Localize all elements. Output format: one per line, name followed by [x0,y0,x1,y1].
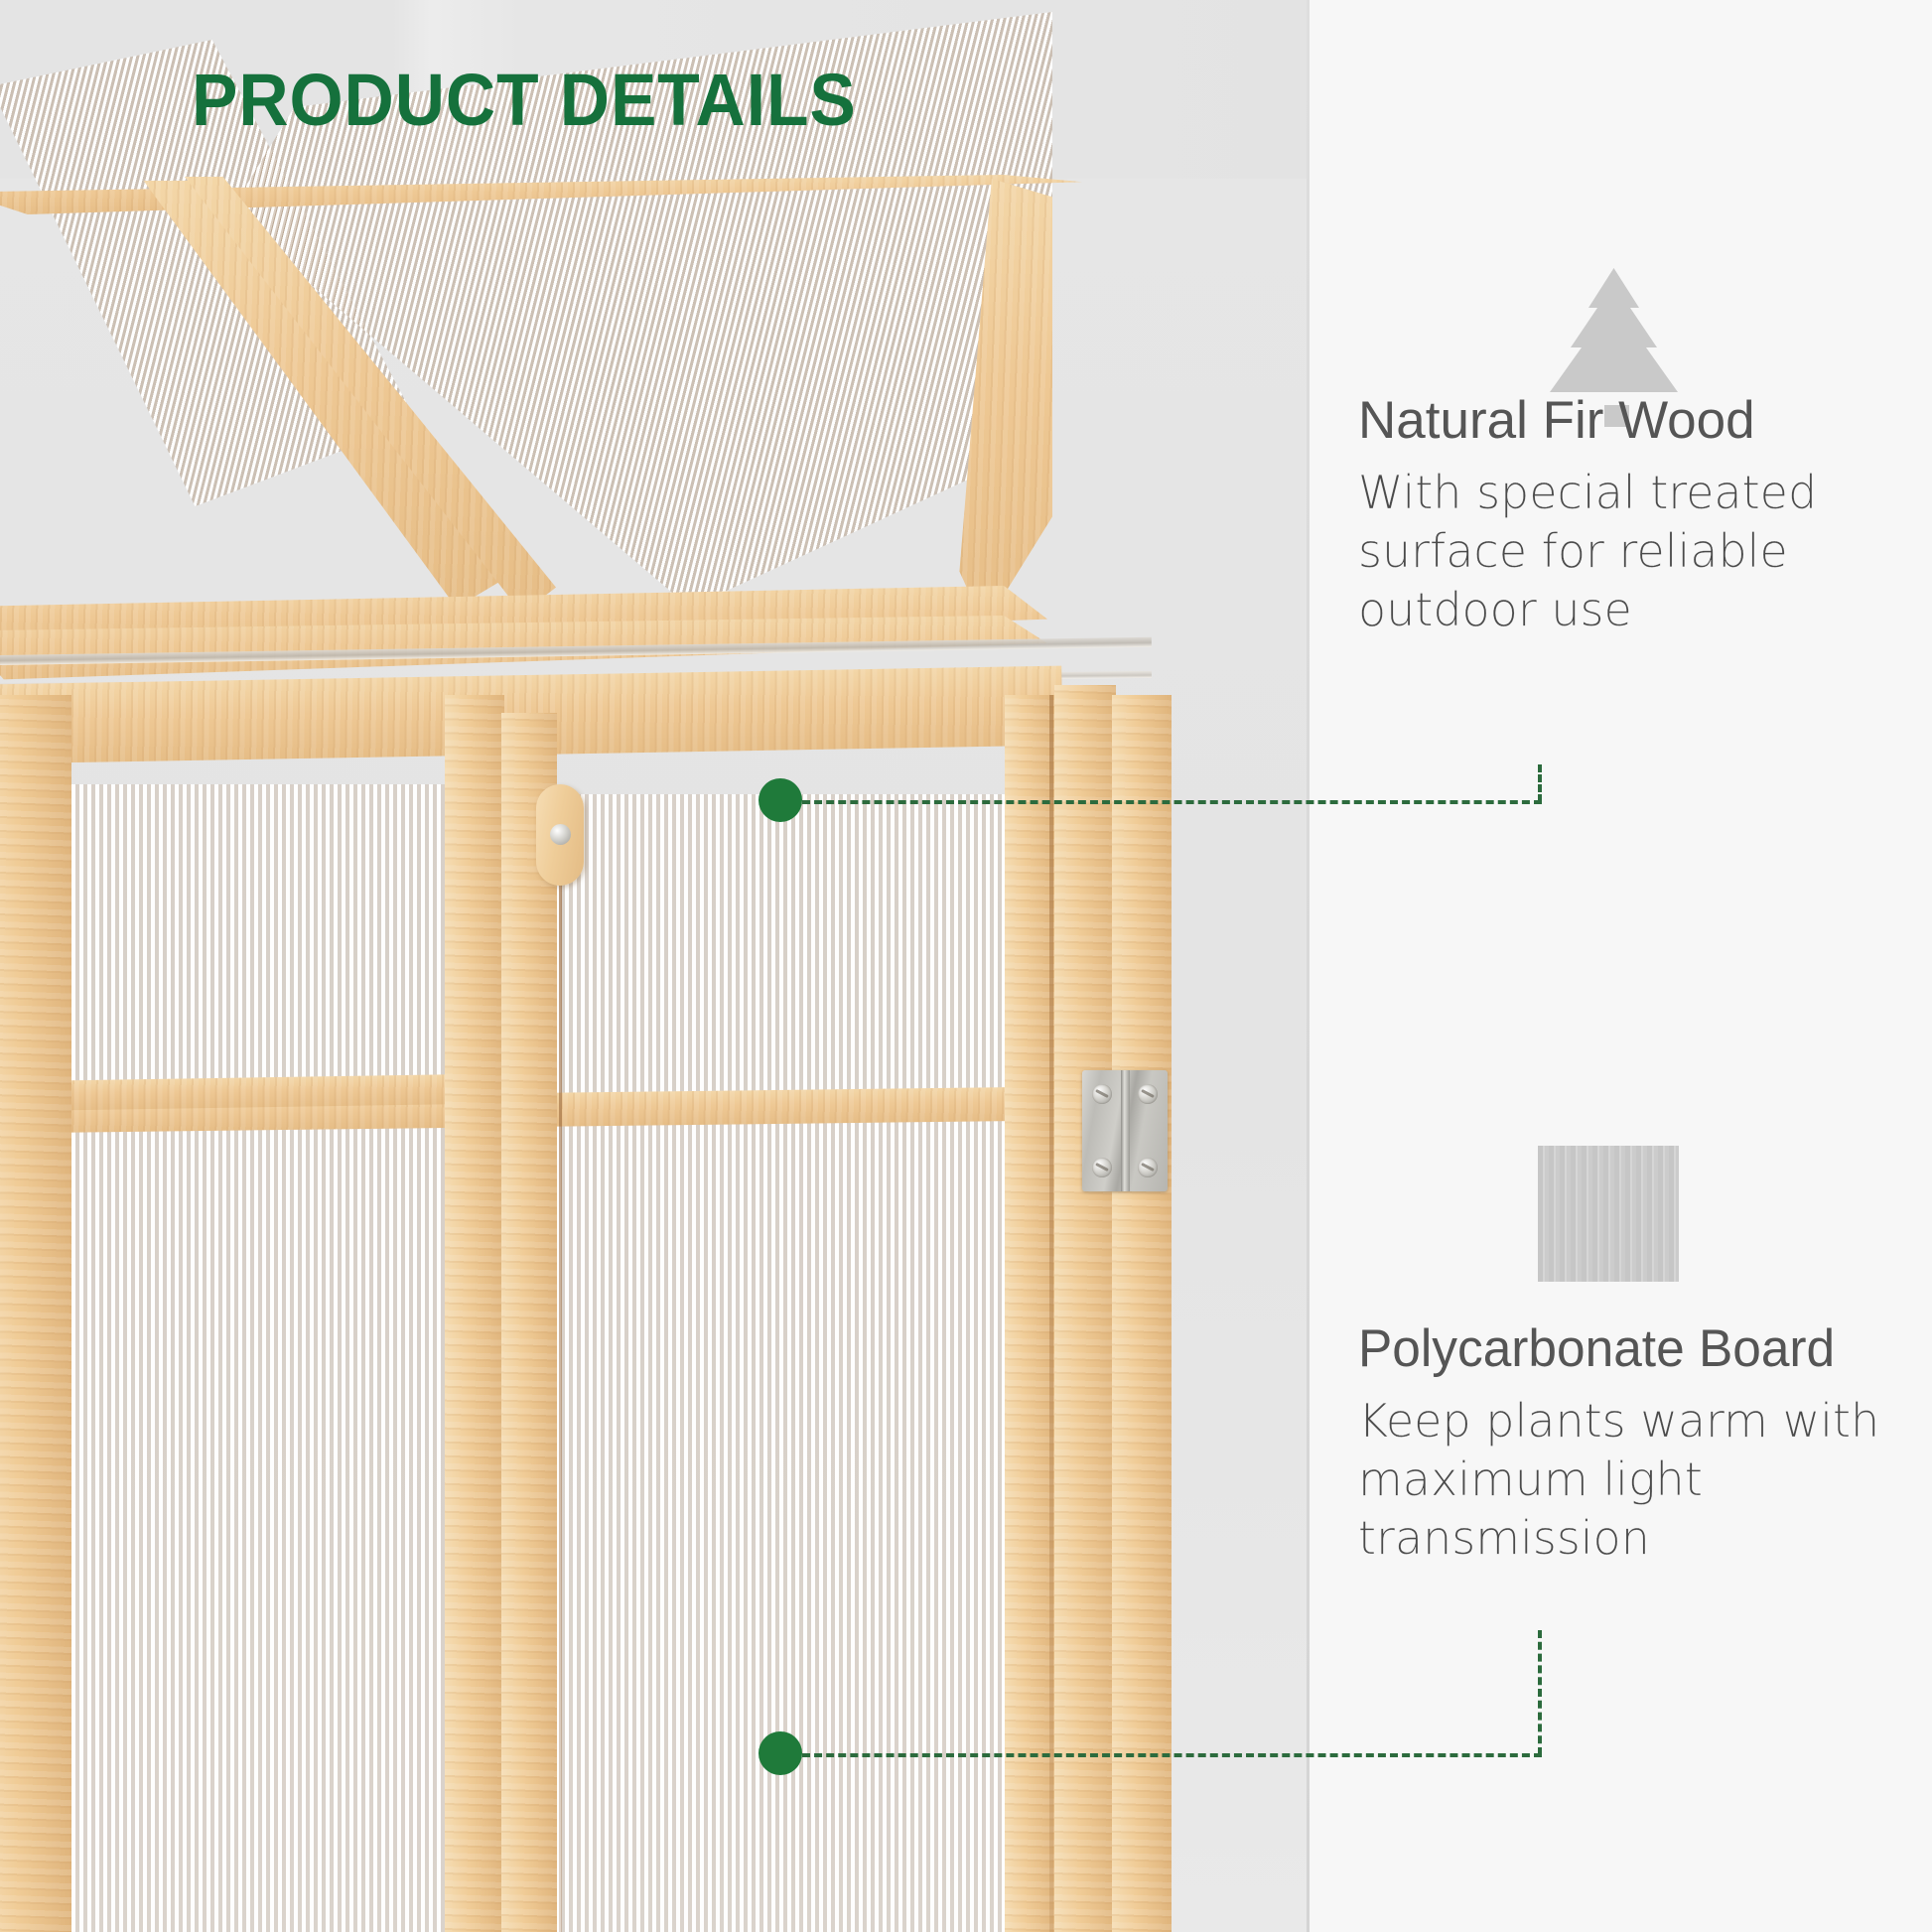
hinge-screw-top-left [1092,1084,1112,1104]
door-hinge [1082,1070,1168,1191]
callout-line-horizontal-fir-wood [802,800,1542,804]
feature-1-heading: Natural Fir Wood [1358,392,1932,450]
polycarbonate-sheet-icon [1538,1146,1679,1282]
hinge-screw-top-right [1138,1084,1158,1104]
product-detail-infographic: PRODUCT DETAILS Natural Fir Wood With sp… [0,0,1932,1932]
callout-dot-fir-wood [759,778,802,822]
hinge-knuckle [1121,1070,1130,1191]
frame-post-center-a [445,695,504,1932]
feature-polycarbonate-board: Polycarbonate Board Keep plants warm wit… [1358,1320,1932,1568]
glazing-panel-right-lower [501,1112,1018,1932]
page-title: PRODUCT DETAILS [192,58,857,142]
feature-2-body: Keep plants warm with maximum light tran… [1358,1392,1932,1568]
frame-post-right [1054,685,1116,1932]
frame-post-corner [1112,695,1172,1932]
hinge-screw-bottom-left [1092,1158,1112,1177]
latch-screw [550,824,571,845]
callout-line-vertical-fir-wood [1538,764,1542,802]
feature-2-heading: Polycarbonate Board [1358,1320,1915,1378]
feature-natural-fir-wood: Natural Fir Wood With special treated su… [1358,392,1932,639]
center-door-seam [559,884,562,1932]
product-photo [0,0,1307,1932]
callout-line-vertical-polycarbonate [1538,1630,1542,1755]
frame-post-center-b [501,713,557,1932]
callout-line-horizontal-polycarbonate [802,1753,1542,1757]
feature-1-body: With special treated surface for reliabl… [1358,464,1932,639]
door-seam [1049,695,1053,1932]
door-latch [536,784,584,886]
callout-dot-polycarbonate [759,1731,802,1775]
frame-post-left [0,695,71,1932]
hinge-screw-bottom-right [1138,1158,1158,1177]
